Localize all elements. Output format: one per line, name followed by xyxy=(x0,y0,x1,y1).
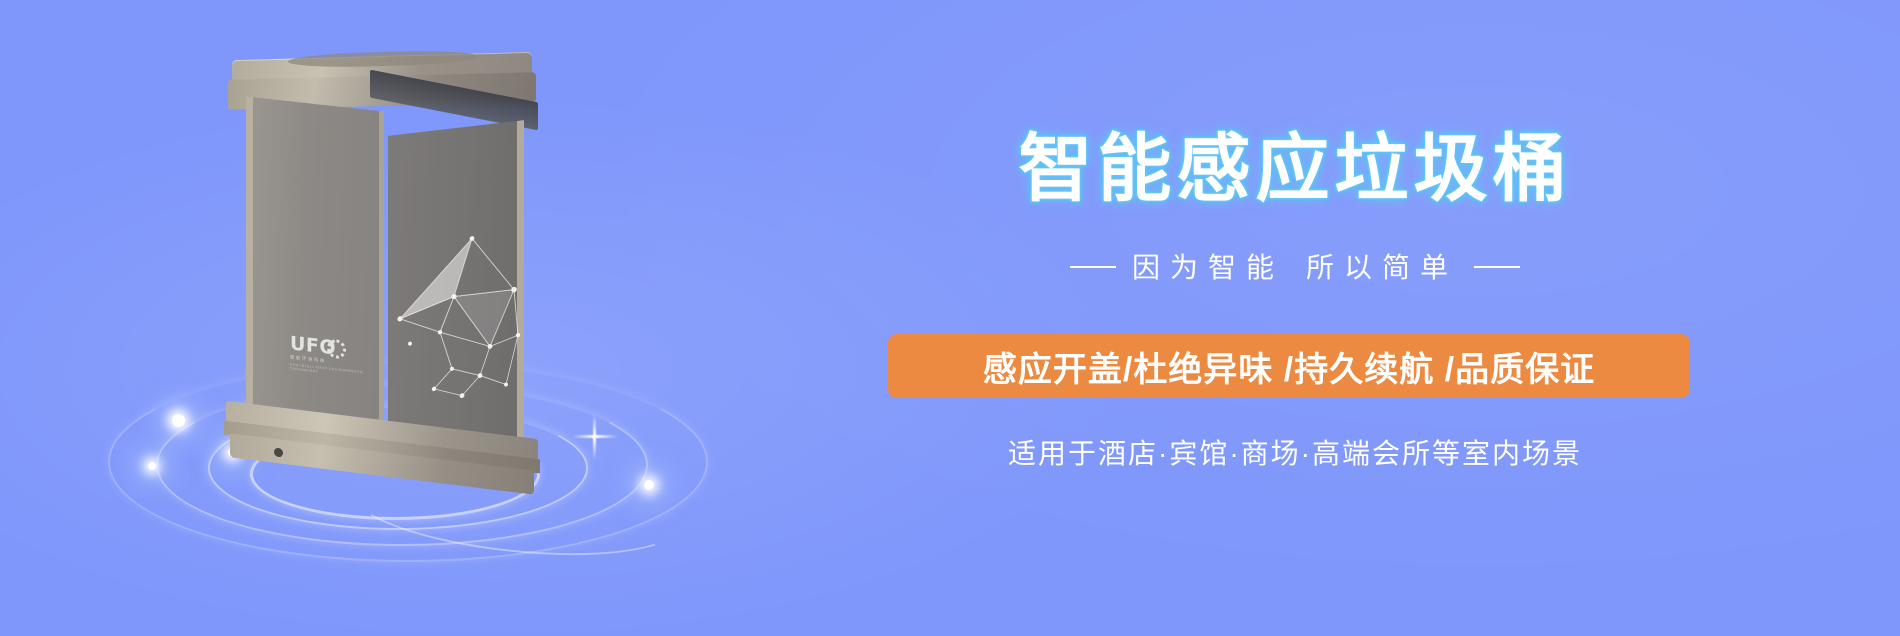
product-scene: UFO 智能环保科技 UFO INTELLIGENT ENVIRONMENTAL… xyxy=(80,40,780,560)
constellation-pattern-icon xyxy=(394,192,524,407)
marketing-copy-block: 智能感应垃圾桶 因为智能所以简单 感应开盖/杜绝异味 /持久续航 /品质保证 适… xyxy=(860,0,1860,636)
headline: 智能感应垃圾桶 xyxy=(900,132,1690,206)
subheadline-rule-right xyxy=(1474,266,1520,268)
subheadline-part-1: 因为智能 xyxy=(1132,252,1284,283)
subheadline-part-2: 所以简单 xyxy=(1306,252,1458,283)
product-promo-banner: UFO 智能环保科技 UFO INTELLIGENT ENVIRONMENTAL… xyxy=(0,0,1900,636)
trash-can-product-image: UFO 智能环保科技 UFO INTELLIGENT ENVIRONMENTAL… xyxy=(218,50,548,480)
sparkle-icon xyxy=(172,414,185,427)
feature-highlight-bar: 感应开盖/杜绝异味 /持久续航 /品质保证 xyxy=(888,334,1690,398)
ufo-brand-logo: UFO 智能环保科技 UFO INTELLIGENT ENVIRONMENTAL… xyxy=(290,333,374,384)
subheadline: 因为智能所以简单 xyxy=(900,246,1690,286)
bin-base-port-icon xyxy=(274,447,283,457)
star-sparkle-icon xyxy=(572,414,618,460)
sparkle-icon xyxy=(644,480,654,490)
bin-front-face xyxy=(246,97,384,442)
subheadline-rule-left xyxy=(1070,266,1116,268)
feature-highlight-text: 感应开盖/杜绝异味 /持久续航 /品质保证 xyxy=(983,342,1595,391)
sparkle-icon xyxy=(148,462,156,470)
use-case-line: 适用于酒店·宾馆·商场·高端会所等室内场景 xyxy=(900,432,1690,472)
